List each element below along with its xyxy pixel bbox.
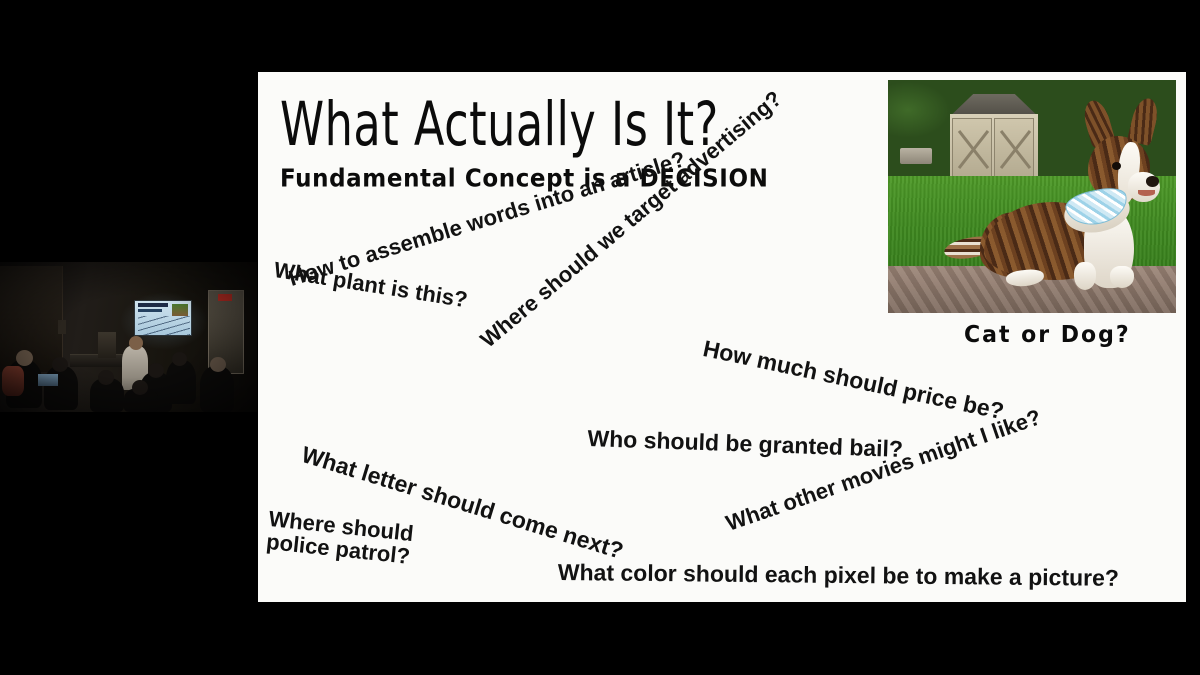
question-granted-bail: Who should be granted bail? — [587, 426, 903, 461]
dog-eye — [1112, 162, 1121, 170]
question-pixel-color: What color should each pixel be to make … — [558, 560, 1119, 590]
dog-mouth — [1138, 190, 1155, 196]
screen-share-stage: What Actually Is It? Fundamental Concept… — [0, 0, 1200, 675]
question-how-much-price: How much should price be? — [701, 336, 1006, 424]
question-police-patrol: Where should police patrol? — [265, 507, 469, 574]
room-camera-feed — [0, 262, 257, 412]
dog-nose — [1146, 176, 1159, 187]
photo-caption: Cat or Dog? — [964, 322, 1131, 349]
page-title: What Actually Is It? — [280, 88, 719, 159]
camera-vignette — [0, 262, 257, 412]
presentation-slide: What Actually Is It? Fundamental Concept… — [258, 72, 1186, 602]
dog-paw — [1074, 262, 1096, 290]
question-other-movies: What other movies might I like? — [723, 405, 1044, 535]
garden-bench — [900, 148, 932, 164]
dog-paw — [1110, 266, 1134, 288]
corgi-photo — [888, 80, 1176, 313]
